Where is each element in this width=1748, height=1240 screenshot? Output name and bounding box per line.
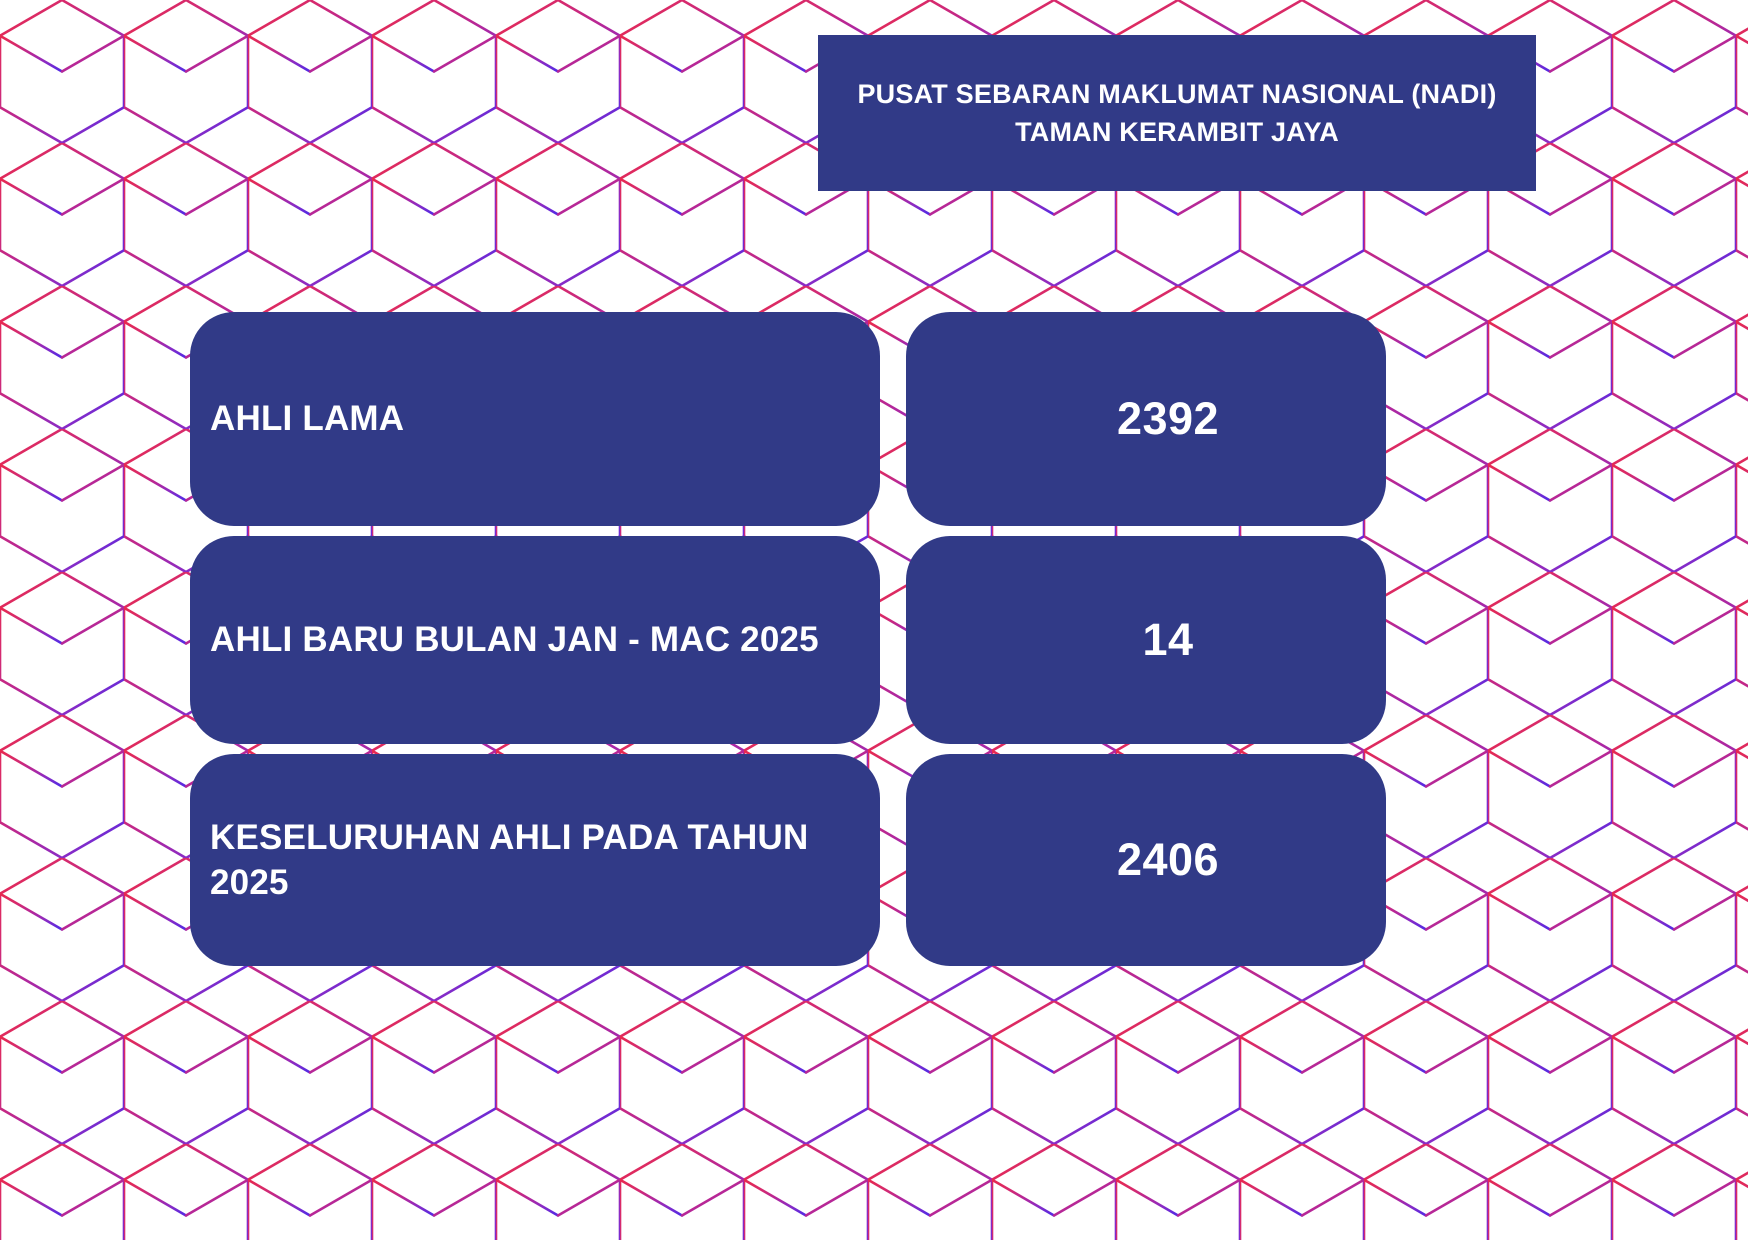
stat-row-ahli-lama: AHLI LAMA 2392 [190,312,1386,526]
stat-label-text-1: AHLI BARU BULAN JAN - MAC 2025 [210,617,819,663]
stat-row-keseluruhan-ahli: KESELURUHAN AHLI PADA TAHUN 2025 2406 [190,754,1386,966]
header-banner: PUSAT SEBARAN MAKLUMAT NASIONAL (NADI) T… [818,35,1536,191]
stat-label-text-2: KESELURUHAN AHLI PADA TAHUN 2025 [210,815,880,906]
stat-value-card-1: 14 [906,536,1386,744]
stat-label-card-1: AHLI BARU BULAN JAN - MAC 2025 [190,536,880,744]
stat-value-text-2: 2406 [1117,834,1219,886]
stat-label-text-0: AHLI LAMA [210,396,404,442]
header-title-line-2: TAMAN KERAMBIT JAYA [1015,113,1339,151]
poster-canvas: PUSAT SEBARAN MAKLUMAT NASIONAL (NADI) T… [0,0,1748,1240]
stat-value-card-0: 2392 [906,312,1386,526]
stat-row-ahli-baru: AHLI BARU BULAN JAN - MAC 2025 14 [190,536,1386,744]
stat-value-card-2: 2406 [906,754,1386,966]
statistics-list: AHLI LAMA 2392 AHLI BARU BULAN JAN - MAC… [190,312,1386,966]
header-title-line-1: PUSAT SEBARAN MAKLUMAT NASIONAL (NADI) [857,75,1496,113]
stat-label-card-0: AHLI LAMA [190,312,880,526]
stat-value-text-0: 2392 [1117,393,1219,445]
stat-label-card-2: KESELURUHAN AHLI PADA TAHUN 2025 [190,754,880,966]
stat-value-text-1: 14 [1142,614,1193,666]
